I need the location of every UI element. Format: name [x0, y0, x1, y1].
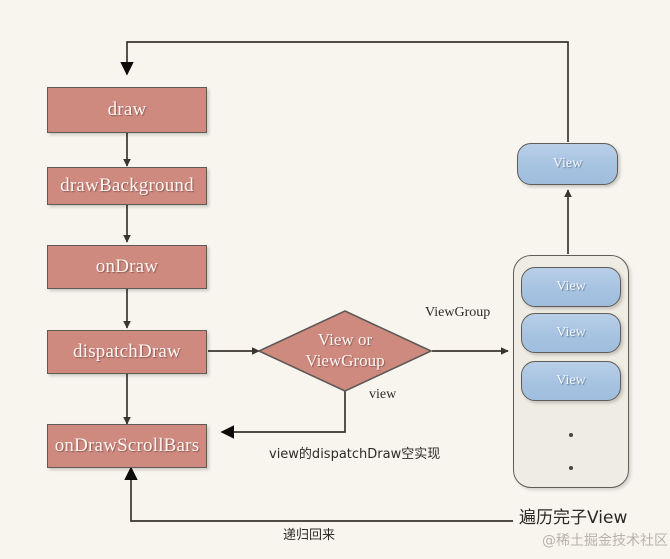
view-node-child-2-label: View [556, 325, 585, 341]
edge-label-traverse-done: 遍历完子View [519, 503, 627, 528]
process-box-draw[interactable]: draw [47, 87, 207, 133]
view-node-child-3[interactable]: View [521, 361, 621, 401]
process-box-ondrawscrollbars-label: onDrawScrollBars [55, 435, 200, 457]
process-box-draw-label: draw [108, 99, 147, 121]
ellipsis-dot-1 [569, 433, 573, 437]
view-node-child-3-label: View [556, 373, 585, 389]
view-node-top-label: View [553, 156, 582, 172]
watermark: @稀土掘金技术社区 [542, 530, 668, 550]
decision-node[interactable]: View or ViewGroup [259, 311, 431, 391]
process-box-dispatchdraw-label: dispatchDraw [73, 341, 181, 363]
process-box-ondraw-label: onDraw [96, 256, 158, 278]
process-box-drawbackground[interactable]: drawBackground [47, 167, 207, 205]
view-node-top[interactable]: View [517, 143, 618, 185]
edge-label-recursive-return: 递归回来 [283, 524, 335, 543]
edge-decision-view-to-ondrawscrollbars [222, 386, 345, 432]
view-node-child-2[interactable]: View [521, 313, 621, 353]
edge-label-viewgroup: ViewGroup [425, 305, 490, 321]
view-node-child-1-label: View [556, 279, 585, 295]
edge-traverse-done-return [131, 468, 513, 521]
diagram-canvas: draw drawBackground onDraw dispatchDraw … [0, 0, 670, 559]
process-box-ondraw[interactable]: onDraw [47, 245, 207, 289]
decision-node-label: View or ViewGroup [305, 330, 384, 371]
ellipsis-dot-2 [569, 466, 573, 470]
decision-label-line2: ViewGroup [305, 351, 384, 372]
process-box-drawbackground-label: drawBackground [60, 175, 194, 197]
process-box-dispatchdraw[interactable]: dispatchDraw [47, 330, 207, 374]
decision-label-line1: View or [305, 330, 384, 351]
edge-label-view-dispatchdraw-empty: view的dispatchDraw空实现 [269, 443, 440, 462]
edge-label-view: view [369, 387, 396, 403]
process-box-ondrawscrollbars[interactable]: onDrawScrollBars [47, 424, 207, 468]
view-node-child-1[interactable]: View [521, 267, 621, 307]
